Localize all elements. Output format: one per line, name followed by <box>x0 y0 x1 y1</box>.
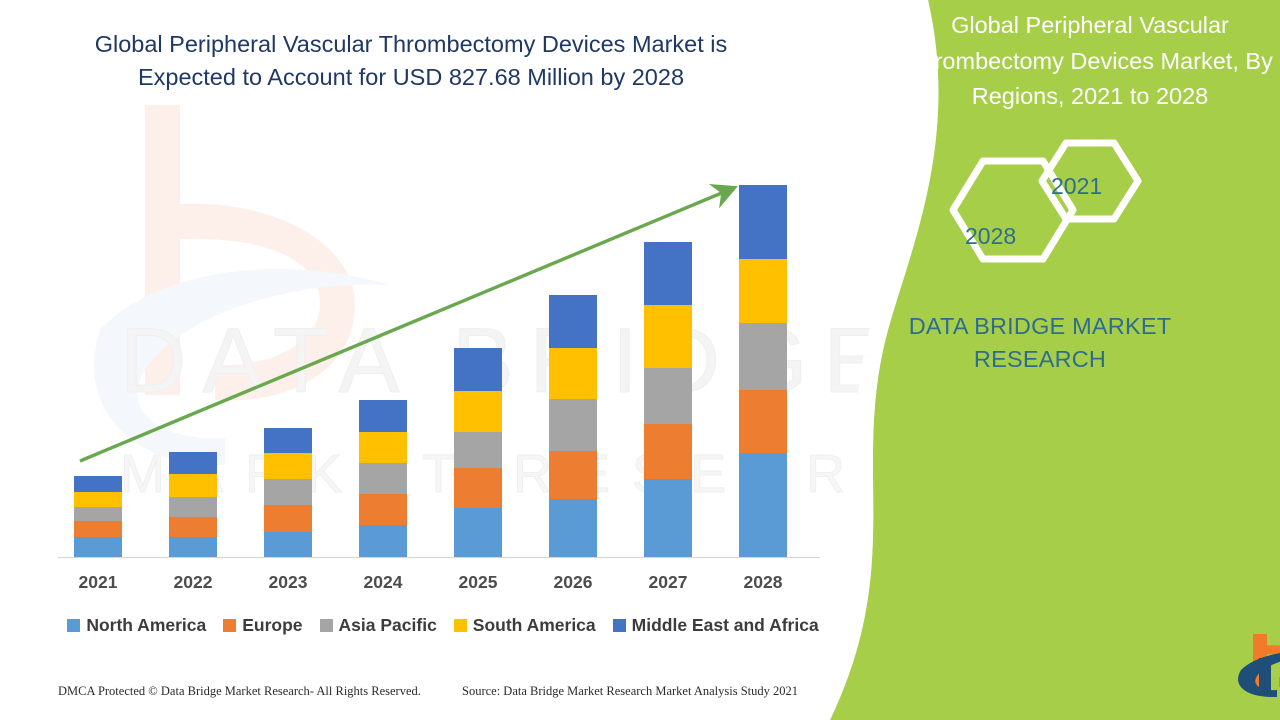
bar-segment-asia-pacific <box>359 463 407 494</box>
bar-segment-north-america <box>169 537 217 557</box>
bar-segment-middle-east-and-africa <box>644 242 692 305</box>
source-note: Source: Data Bridge Market Research Mark… <box>462 684 798 699</box>
bar-segment-north-america <box>549 499 597 557</box>
legend-swatch-icon <box>320 619 333 632</box>
chart-legend: North AmericaEuropeAsia PacificSouth Ame… <box>58 615 828 636</box>
legend-item-asia-pacific[interactable]: Asia Pacific <box>320 615 437 636</box>
legend-label: South America <box>473 615 596 636</box>
x-axis-label-2025: 2025 <box>438 572 518 593</box>
bar-segment-middle-east-and-africa <box>169 452 217 474</box>
infographic-page: DATA BRIDGE MARKET RESEARCH Global Perip… <box>0 0 1280 720</box>
bar-segment-europe <box>264 505 312 533</box>
bar-segment-south-america <box>169 474 217 497</box>
bar-segment-middle-east-and-africa <box>359 400 407 432</box>
bar-segment-middle-east-and-africa <box>74 476 122 492</box>
bar-segment-europe <box>454 468 502 507</box>
x-axis-label-2023: 2023 <box>248 572 328 593</box>
bar-segment-asia-pacific <box>169 497 217 517</box>
brand-panel: Global Peripheral Vascular Thrombectomy … <box>810 0 1280 720</box>
hexagon-group: 2021 2028 <box>920 135 1150 285</box>
bar-segment-south-america <box>74 492 122 507</box>
legend-label: Europe <box>242 615 302 636</box>
bar-2022 <box>169 452 217 557</box>
bar-segment-south-america <box>549 348 597 399</box>
bar-segment-middle-east-and-africa <box>739 185 787 259</box>
bar-segment-middle-east-and-africa <box>549 295 597 348</box>
bar-segment-middle-east-and-africa <box>454 348 502 391</box>
bar-segment-south-america <box>739 259 787 323</box>
bar-segment-north-america <box>264 532 312 557</box>
bar-2024 <box>359 400 407 557</box>
bar-segment-asia-pacific <box>739 323 787 390</box>
bar-segment-north-america <box>739 453 787 557</box>
bar-segment-south-america <box>644 305 692 367</box>
copyright-notice: DMCA Protected © Data Bridge Market Rese… <box>58 684 421 699</box>
bar-segment-europe <box>739 390 787 453</box>
bar-segment-asia-pacific <box>264 479 312 505</box>
bar-2023 <box>264 428 312 557</box>
legend-item-middle-east-and-africa[interactable]: Middle East and Africa <box>613 615 819 636</box>
legend-label: Asia Pacific <box>339 615 437 636</box>
bar-segment-europe <box>359 494 407 526</box>
panel-title: Global Peripheral Vascular Thrombectomy … <box>880 8 1280 115</box>
bar-segment-south-america <box>264 453 312 479</box>
legend-item-north-america[interactable]: North America <box>67 615 206 636</box>
growth-arrow-icon <box>0 0 860 600</box>
x-axis-label-2022: 2022 <box>153 572 233 593</box>
bar-2026 <box>549 295 597 557</box>
bar-segment-north-america <box>359 525 407 557</box>
legend-swatch-icon <box>613 619 626 632</box>
x-axis-label-2027: 2027 <box>628 572 708 593</box>
legend-label: North America <box>86 615 206 636</box>
x-axis-label-2024: 2024 <box>343 572 423 593</box>
bar-segment-south-america <box>454 391 502 431</box>
bar-segment-europe <box>644 424 692 479</box>
x-axis-label-2021: 2021 <box>58 572 138 593</box>
bar-2028 <box>739 185 787 557</box>
bar-segment-asia-pacific <box>549 399 597 451</box>
x-axis-label-2026: 2026 <box>533 572 613 593</box>
bar-segment-north-america <box>454 508 502 557</box>
bar-2027 <box>644 242 692 557</box>
legend-swatch-icon <box>223 619 236 632</box>
legend-item-south-america[interactable]: South America <box>454 615 596 636</box>
bar-segment-europe <box>169 517 217 538</box>
brand-line-1: DATA BRIDGE MARKET <box>865 310 1215 343</box>
x-axis-line <box>58 557 820 558</box>
chart-plot-area: 20212022202320242025202620272028 <box>0 0 860 600</box>
brand-name: DATA BRIDGE MARKET RESEARCH <box>865 310 1215 377</box>
x-axis-label-2028: 2028 <box>723 572 803 593</box>
hexagon-2021-label: 2021 <box>1051 173 1102 200</box>
hexagon-2028-label: 2028 <box>965 223 1016 250</box>
data-bridge-b-logo-icon <box>1238 634 1280 697</box>
bar-segment-asia-pacific <box>74 507 122 522</box>
bar-2025 <box>454 348 502 557</box>
bar-segment-north-america <box>644 479 692 557</box>
bar-segment-asia-pacific <box>454 432 502 469</box>
brand-line-2: RESEARCH <box>865 343 1215 376</box>
bar-segment-asia-pacific <box>644 368 692 424</box>
bar-segment-south-america <box>359 432 407 464</box>
legend-item-europe[interactable]: Europe <box>223 615 302 636</box>
bar-segment-europe <box>549 451 597 498</box>
legend-swatch-icon <box>454 619 467 632</box>
bar-segment-europe <box>74 521 122 537</box>
bar-segment-north-america <box>74 537 122 557</box>
bar-segment-middle-east-and-africa <box>264 428 312 454</box>
legend-label: Middle East and Africa <box>632 615 819 636</box>
bar-2021 <box>74 476 122 557</box>
data-bridge-logo: DATA BRIDGE MARKET RESEARCH <box>1235 628 1280 698</box>
legend-swatch-icon <box>67 619 80 632</box>
